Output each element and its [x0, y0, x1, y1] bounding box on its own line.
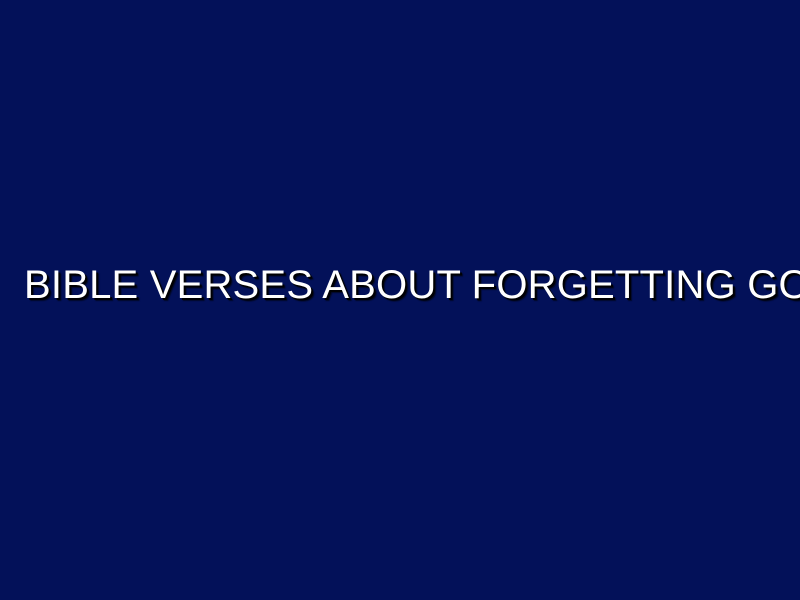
title-slide: BIBLE VERSES ABOUT FORGETTING GOD — [0, 0, 800, 600]
page-title: BIBLE VERSES ABOUT FORGETTING GOD — [24, 262, 800, 308]
title-block: BIBLE VERSES ABOUT FORGETTING GOD — [0, 262, 800, 308]
